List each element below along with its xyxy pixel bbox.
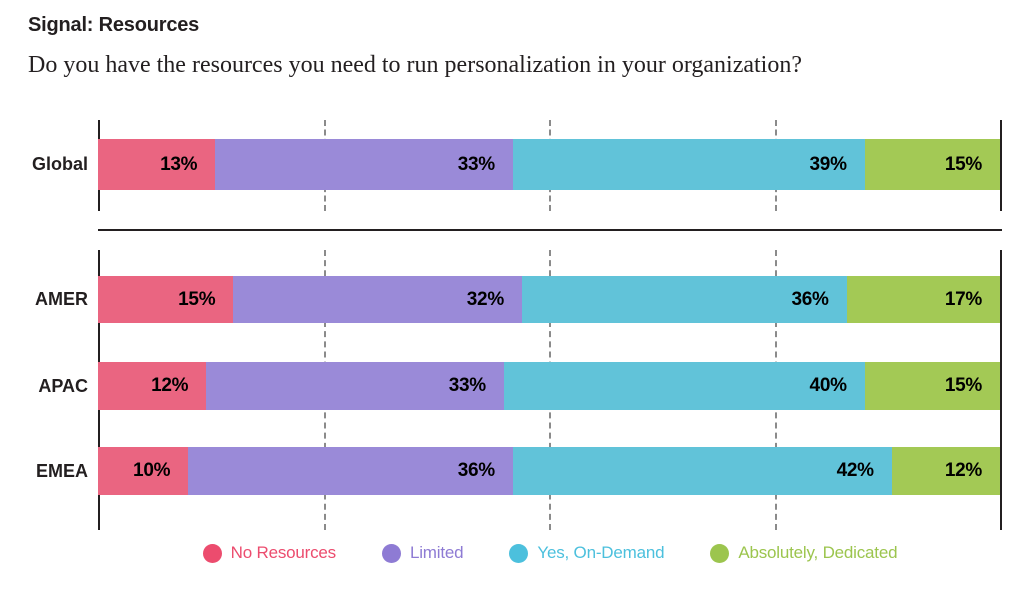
bar-segment-value: 15% (945, 375, 982, 397)
bar-segment-value: 39% (810, 154, 847, 176)
legend-label: No Resources (231, 543, 336, 563)
bar-segment-value: 17% (945, 289, 982, 311)
bar-segment-value: 32% (467, 289, 504, 311)
bar-segment-value: 33% (458, 154, 495, 176)
legend-item[interactable]: Yes, On-Demand (509, 543, 664, 563)
bar-segment: 15% (865, 139, 1000, 190)
bar-segment-value: 12% (151, 375, 188, 397)
bar-segment-value: 13% (160, 154, 197, 176)
row-label-apac: APAC (38, 362, 88, 410)
group-divider (98, 229, 1002, 231)
bar-segment: 15% (98, 276, 233, 323)
legend-item[interactable]: Limited (382, 543, 463, 563)
row-label-emea: EMEA (36, 447, 88, 495)
legend-label: Yes, On-Demand (537, 543, 664, 563)
bar-segment: 33% (215, 139, 513, 190)
bar-segment: 15% (865, 362, 1000, 410)
bar-row: 12%33%40%15% (98, 362, 1000, 410)
row-label-global: Global (32, 139, 88, 190)
bar-segment-value: 10% (133, 460, 170, 482)
axis-line-right (1000, 120, 1002, 211)
bar-segment-value: 33% (449, 375, 486, 397)
legend-item[interactable]: No Resources (203, 543, 336, 563)
chart-plot-area: Global13%33%39%15%AMER15%32%36%17%APAC12… (0, 0, 1024, 595)
bar-segment: 12% (892, 447, 1000, 495)
bar-segment-value: 15% (178, 289, 215, 311)
bar-segment: 39% (513, 139, 865, 190)
chart-legend: No ResourcesLimitedYes, On-DemandAbsolut… (98, 543, 1002, 563)
legend-item[interactable]: Absolutely, Dedicated (710, 543, 897, 563)
legend-label: Absolutely, Dedicated (738, 543, 897, 563)
legend-swatch-icon (710, 544, 729, 563)
bar-segment-value: 40% (810, 375, 847, 397)
bar-row: 15%32%36%17% (98, 276, 1000, 323)
bar-segment: 36% (522, 276, 847, 323)
bar-segment-value: 42% (837, 460, 874, 482)
bar-segment-value: 36% (792, 289, 829, 311)
legend-swatch-icon (382, 544, 401, 563)
bar-segment: 36% (188, 447, 513, 495)
bar-segment: 33% (206, 362, 504, 410)
legend-swatch-icon (203, 544, 222, 563)
bar-segment-value: 12% (945, 460, 982, 482)
legend-swatch-icon (509, 544, 528, 563)
bar-segment-value: 36% (458, 460, 495, 482)
legend-label: Limited (410, 543, 463, 563)
row-label-amer: AMER (35, 276, 88, 323)
bar-row: 13%33%39%15% (98, 139, 1000, 190)
axis-line-right (1000, 250, 1002, 530)
bar-segment: 40% (504, 362, 865, 410)
bar-segment: 13% (98, 139, 215, 190)
bar-segment: 32% (233, 276, 522, 323)
bar-row: 10%36%42%12% (98, 447, 1000, 495)
bar-segment: 17% (847, 276, 1000, 323)
bar-segment: 10% (98, 447, 188, 495)
bar-segment: 42% (513, 447, 892, 495)
bar-segment-value: 15% (945, 154, 982, 176)
bar-segment: 12% (98, 362, 206, 410)
